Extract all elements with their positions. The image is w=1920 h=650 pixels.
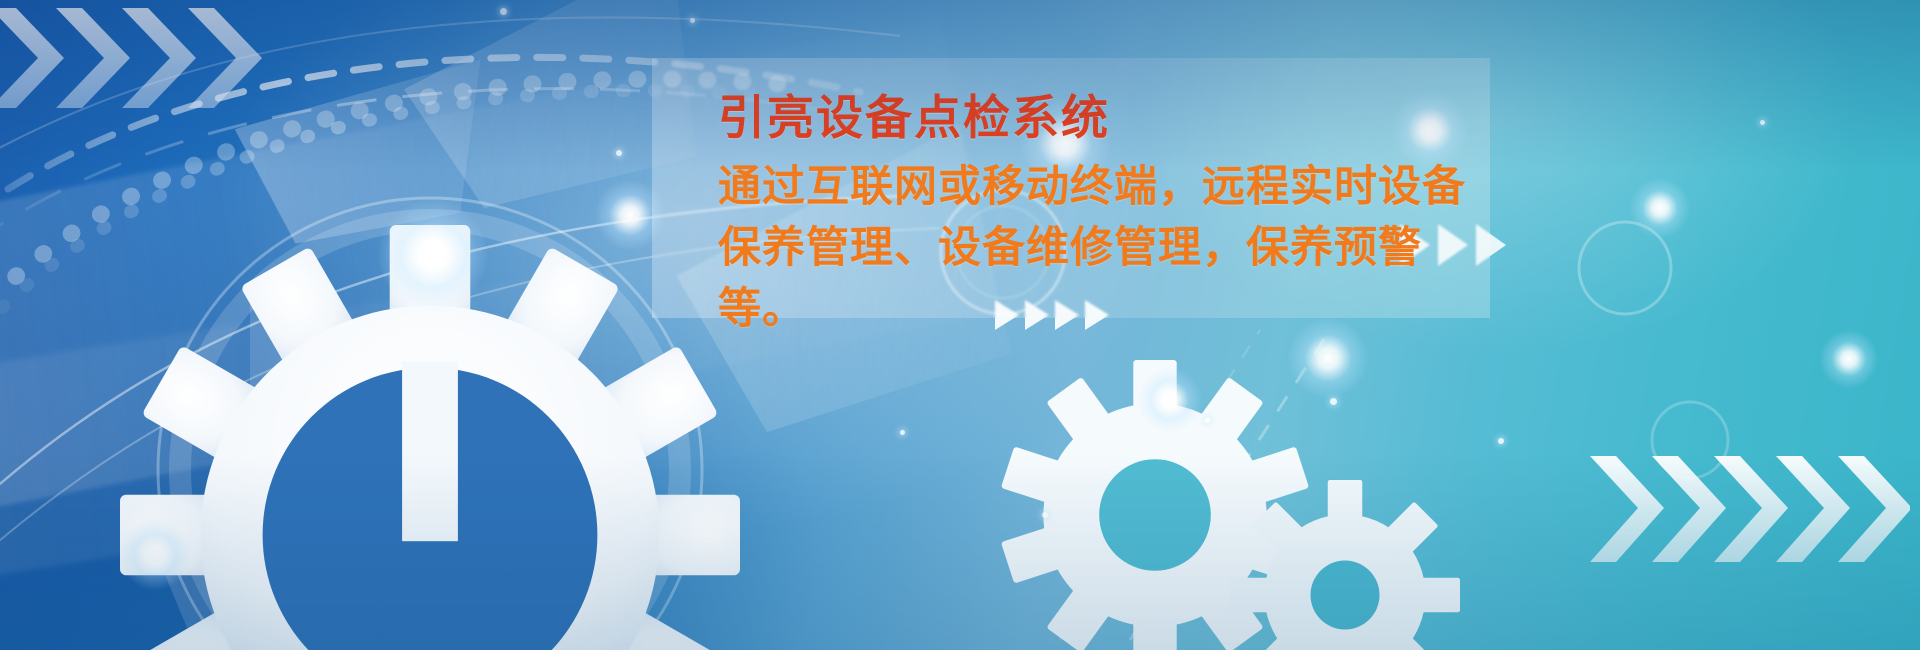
promo-banner: 引亮设备点检系统 通过互联网或移动终端，远程实时设备保养管理、设备维修管理，保养… [0, 0, 1920, 650]
background-vignette [0, 0, 1920, 650]
